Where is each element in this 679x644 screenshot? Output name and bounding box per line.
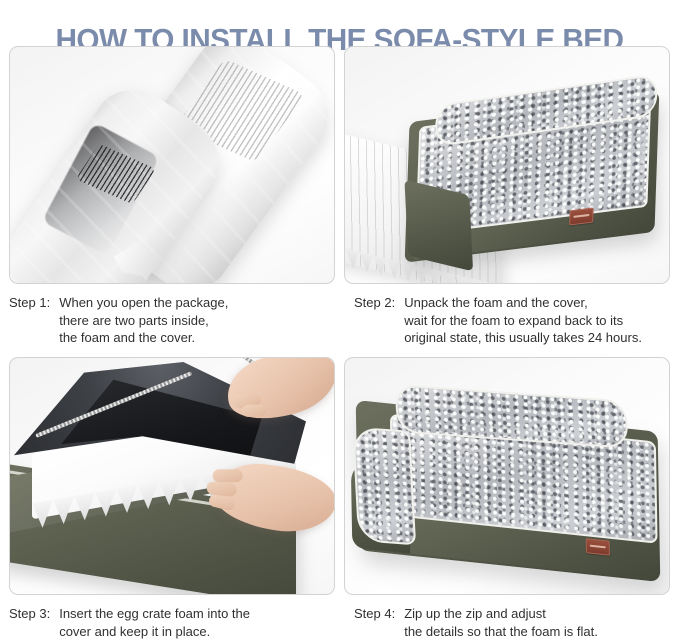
cover-open-fold (404, 180, 473, 272)
cover-deck-wrap (410, 91, 660, 122)
step-4-label: Step 4: (354, 605, 404, 623)
finger (242, 404, 266, 417)
step-cell-1: Step 1: When you open the package, there… (9, 46, 339, 347)
step-3-label: Step 3: (9, 605, 59, 623)
step-4-caption: Step 4: Zip up the zip and adjust the de… (344, 605, 674, 640)
step-3-text: Insert the egg crate foam into the cover… (59, 605, 339, 640)
step-2-image-foam-and-cover (345, 47, 669, 283)
step-1-line-2: there are two parts inside, (59, 312, 339, 330)
step-3-photo-frame (9, 357, 335, 595)
finger (213, 469, 243, 482)
plush-armrest (352, 427, 416, 546)
step-2-label: Step 2: (354, 294, 404, 312)
step-4-image-finished-bed (345, 358, 669, 594)
brand-tag (586, 538, 610, 556)
step-4-line-2: the details so that the foam is flat. (404, 623, 674, 641)
step-1-line-3: the foam and the cover. (59, 329, 339, 347)
step-3-line-1: Insert the egg crate foam into the (59, 605, 339, 623)
step-1-text: When you open the package, there are two… (59, 294, 339, 347)
step-1-label: Step 1: (9, 294, 59, 312)
step-2-text: Unpack the foam and the cover, wait for … (404, 294, 674, 347)
step-2-line-3: original state, this usually takes 24 ho… (404, 329, 674, 347)
step-cell-2: Step 2: Unpack the foam and the cover, w… (344, 46, 674, 347)
step-1-caption: Step 1: When you open the package, there… (9, 294, 339, 347)
step-cell-4: Step 4: Zip up the zip and adjust the de… (344, 357, 674, 640)
step-4-text: Zip up the zip and adjust the details so… (404, 605, 674, 640)
step-1-line-1: When you open the package, (59, 294, 339, 312)
step-2-caption: Step 2: Unpack the foam and the cover, w… (344, 294, 674, 347)
step-2-line-1: Unpack the foam and the cover, (404, 294, 674, 312)
step-3-line-2: cover and keep it in place. (59, 623, 339, 641)
step-3-caption: Step 3: Insert the egg crate foam into t… (9, 605, 339, 640)
step-cell-3: Step 3: Insert the egg crate foam into t… (9, 357, 339, 640)
steps-grid: Step 1: When you open the package, there… (0, 46, 679, 644)
step-2-line-2: wait for the foam to expand back to its (404, 312, 674, 330)
step-1-photo-frame (9, 46, 335, 284)
step-1-image-rolled-packages (10, 47, 334, 283)
brand-tag (569, 207, 594, 225)
finished-bed (356, 400, 661, 582)
step-2-photo-frame (344, 46, 670, 284)
step-4-line-1: Zip up the zip and adjust (404, 605, 674, 623)
step-3-image-inserting-foam (10, 358, 334, 594)
bed-cover (405, 91, 660, 263)
step-4-photo-frame (344, 357, 670, 595)
